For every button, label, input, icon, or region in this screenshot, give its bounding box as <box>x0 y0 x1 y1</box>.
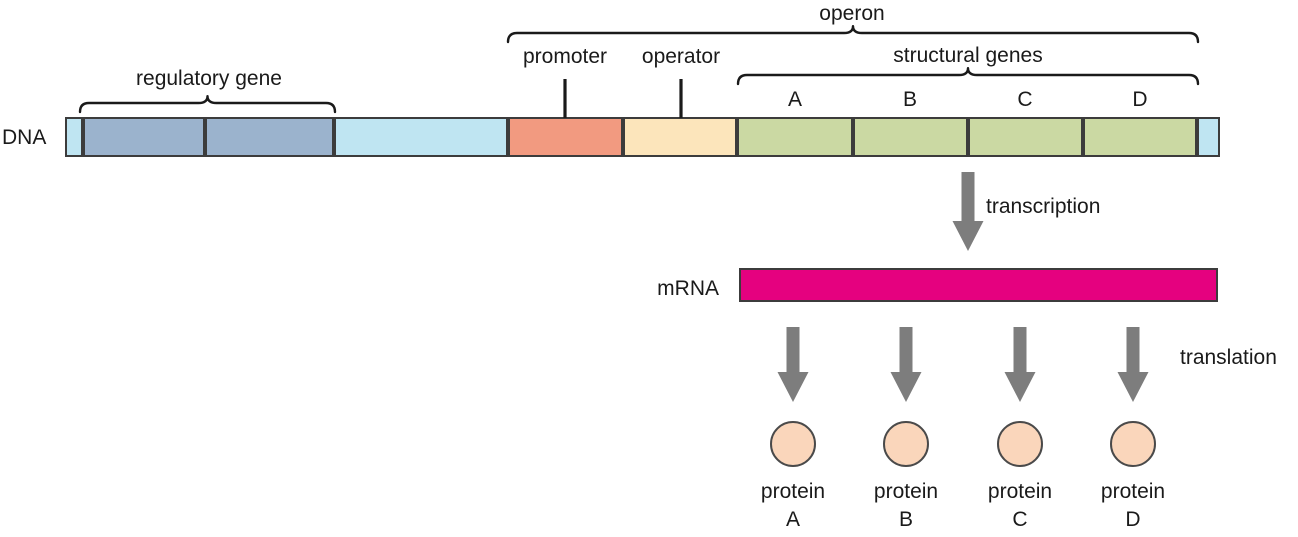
translation-arrow-2 <box>891 327 922 402</box>
translation-arrow-4 <box>1118 327 1149 402</box>
operon-label: operon <box>819 3 884 24</box>
protein-d-circle <box>1110 421 1156 467</box>
protein-a-label: protein <box>761 481 825 502</box>
operator-label: operator <box>642 46 720 67</box>
protein-d-letter: D <box>1125 509 1140 530</box>
protein-b-label: protein <box>874 481 938 502</box>
protein-a-letter: A <box>786 509 800 530</box>
transcription-arrow <box>953 172 984 251</box>
protein-d-label: protein <box>1101 481 1165 502</box>
protein-c-letter: C <box>1012 509 1027 530</box>
mrna-row-label: mRNA <box>657 278 719 299</box>
structural-genes-label: structural genes <box>893 45 1042 66</box>
protein-a-circle <box>770 421 816 467</box>
regulatory-gene-label: regulatory gene <box>136 68 282 89</box>
protein-c-label: protein <box>988 481 1052 502</box>
translation-arrow-1 <box>778 327 809 402</box>
regulatory-gene-bracket <box>80 96 335 112</box>
operon-bracket <box>508 26 1198 42</box>
operon-diagram: DNA ABCD regulatory gene operon structur… <box>0 0 1298 537</box>
translation-label: translation <box>1180 347 1277 368</box>
mrna-bar <box>739 268 1218 302</box>
transcription-label: transcription <box>986 196 1100 217</box>
promoter-label: promoter <box>523 46 607 67</box>
structural-genes-bracket <box>738 68 1198 84</box>
protein-b-circle <box>883 421 929 467</box>
protein-c-circle <box>997 421 1043 467</box>
translation-arrow-3 <box>1005 327 1036 402</box>
protein-b-letter: B <box>899 509 913 530</box>
